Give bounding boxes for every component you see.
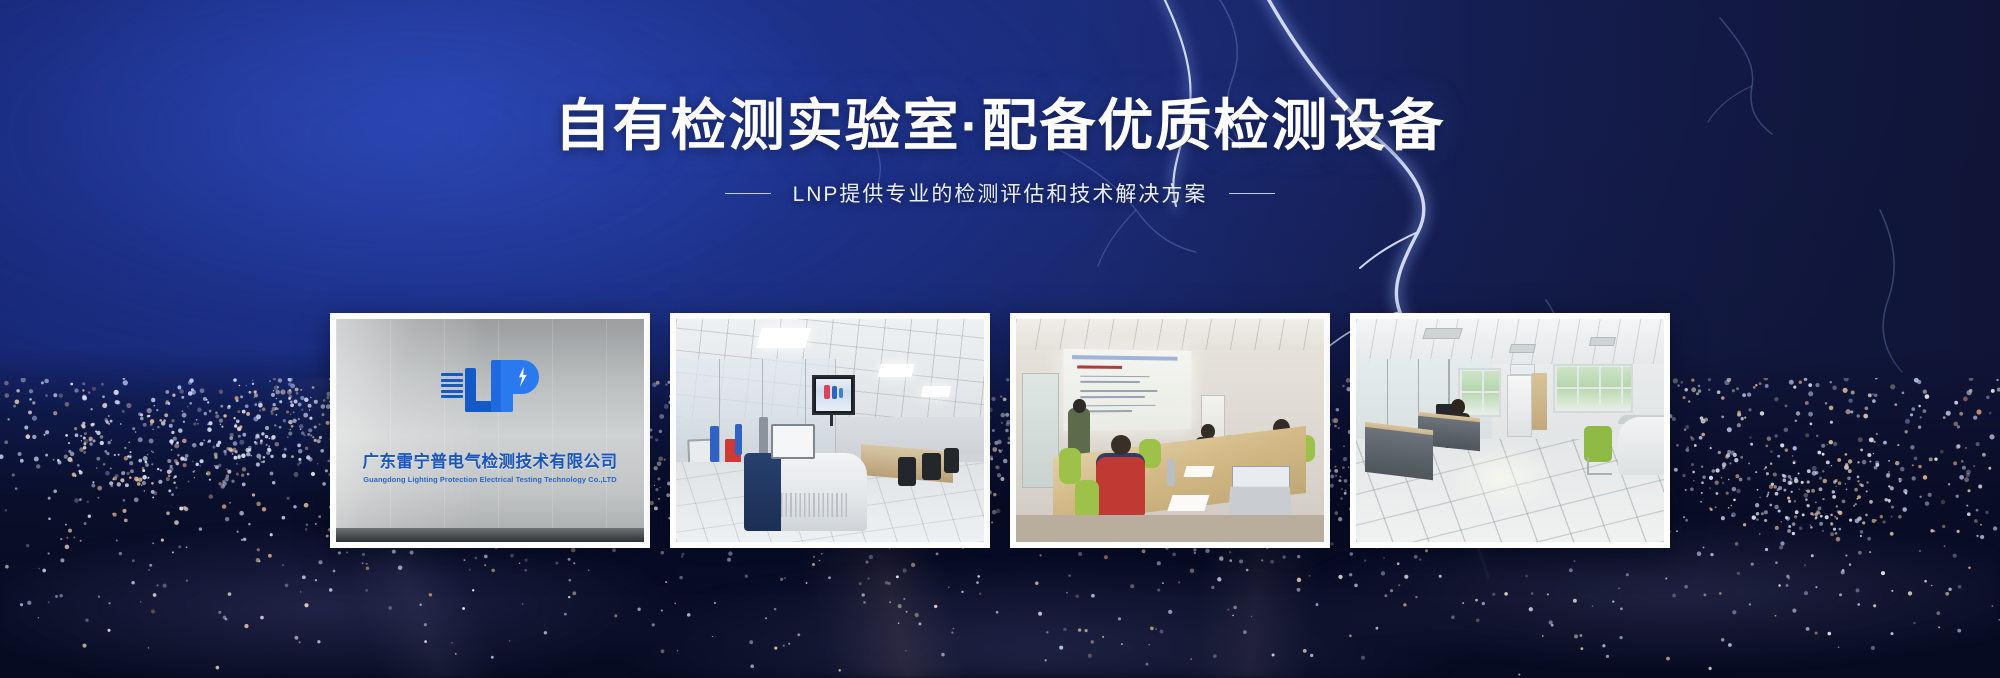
wall-mounted-display bbox=[812, 375, 855, 415]
photo-image-laboratory bbox=[676, 319, 984, 542]
logo-bars-icon bbox=[441, 373, 463, 398]
reception-counter bbox=[1618, 417, 1664, 475]
document-paper bbox=[1167, 495, 1209, 511]
chair-frame bbox=[1587, 457, 1612, 475]
console-side-panel bbox=[744, 453, 781, 531]
ceiling-vent bbox=[1509, 344, 1536, 353]
photo-image-meeting-room bbox=[1016, 319, 1324, 542]
lnp-logo-icon bbox=[441, 360, 539, 412]
photo-image-logo-wall: 广东雷宁普电气检测技术有限公司 Guangdong Lighting Prote… bbox=[336, 319, 644, 542]
ceiling-vent bbox=[1589, 337, 1616, 346]
photo-gallery: 广东雷宁普电气检测技术有限公司 Guangdong Lighting Prote… bbox=[330, 313, 1670, 548]
office-desk bbox=[1365, 426, 1433, 479]
ceiling-lamp bbox=[921, 386, 951, 397]
wooden-shelf bbox=[1532, 373, 1547, 431]
console-vents bbox=[781, 493, 849, 518]
office-window bbox=[1553, 364, 1633, 413]
gallery-photo-office-area[interactable] bbox=[1350, 313, 1670, 548]
ceiling-lamp bbox=[878, 364, 915, 377]
attendee-figure-red bbox=[1096, 457, 1145, 515]
gallery-photo-testing-laboratory[interactable] bbox=[670, 313, 990, 548]
ceiling-vent bbox=[1422, 328, 1463, 339]
banner-stage: 自有检测实验室·配备优质检测设备 LNP提供专业的检测评估和技术解决方案 bbox=[0, 0, 2000, 678]
document-paper bbox=[1184, 466, 1215, 477]
wall-sheen bbox=[336, 319, 475, 542]
gallery-photo-meeting-training-room[interactable] bbox=[1010, 313, 1330, 548]
green-chair bbox=[1075, 480, 1100, 520]
company-name-cn: 广东雷宁普电气检测技术有限公司 bbox=[363, 448, 618, 472]
subtitle-rule-left bbox=[725, 193, 771, 194]
meeting-floor bbox=[1016, 515, 1324, 542]
subtitle-rule-right bbox=[1229, 193, 1275, 194]
photo-image-office bbox=[1356, 319, 1664, 542]
green-chair bbox=[1059, 448, 1081, 484]
subtitle-row: LNP提供专业的检测评估和技术解决方案 bbox=[0, 178, 2000, 208]
logo-letters-icon bbox=[465, 360, 539, 412]
office-chair bbox=[898, 457, 916, 486]
banner-text-block: 自有检测实验室·配备优质检测设备 LNP提供专业的检测评估和技术解决方案 bbox=[0, 96, 2000, 208]
office-chair bbox=[922, 453, 940, 480]
storage-cabinet bbox=[1507, 375, 1532, 437]
ceiling-lamp bbox=[756, 328, 811, 348]
presenter-head bbox=[1073, 399, 1085, 412]
water-bottle bbox=[1167, 459, 1175, 486]
gallery-photo-company-logo-wall[interactable]: 广东雷宁普电气检测技术有限公司 Guangdong Lighting Prote… bbox=[330, 313, 650, 548]
floor-strip bbox=[336, 528, 644, 542]
display-mount bbox=[830, 415, 833, 426]
console-monitor bbox=[771, 424, 814, 460]
page-subtitle: LNP提供专业的检测评估和技术解决方案 bbox=[793, 178, 1208, 208]
company-name-en: Guangdong Lighting Protection Electrical… bbox=[363, 475, 616, 484]
sunlight-patch bbox=[1448, 444, 1559, 511]
test-rig bbox=[710, 426, 719, 462]
office-chair bbox=[944, 448, 959, 473]
test-rig bbox=[735, 424, 743, 455]
page-title: 自有检测实验室·配备优质检测设备 bbox=[0, 96, 2000, 156]
office-ceiling-grid bbox=[1356, 319, 1664, 364]
